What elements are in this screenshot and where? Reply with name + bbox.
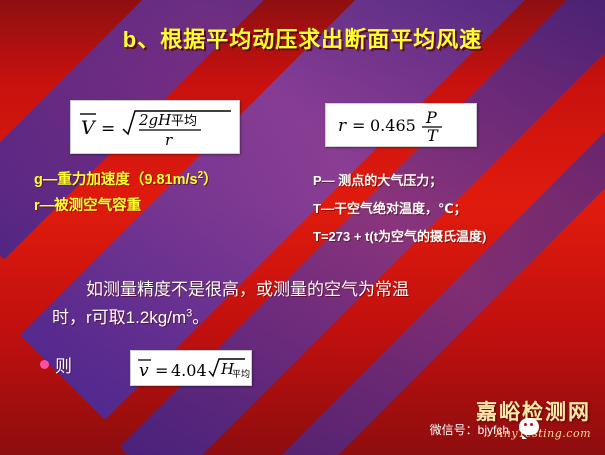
svg-text:=: = — [352, 116, 365, 135]
svg-text:P: P — [425, 108, 437, 127]
paragraph-line-1: 如测量精度不是很高，或测量的空气为常温 — [52, 276, 572, 304]
legend-right-line-3: T=273 + t(t为空气的摄氏温度) — [313, 226, 486, 245]
wechat-icon-eye-right — [530, 423, 533, 426]
svg-text:=: = — [101, 119, 115, 139]
bullet-dot-icon — [40, 360, 49, 369]
paragraph-line-2: 时，r可取1.2kg/m3。 — [52, 308, 209, 327]
wechat-icon-eye-left — [524, 423, 527, 426]
legend-right-line-2: T—干空气绝对温度，℃； — [313, 198, 486, 217]
legend-left-line-1: g—重力加速度（9.81m/s2） — [34, 168, 218, 189]
svg-text:平均: 平均 — [232, 368, 250, 380]
legend-right: P— 测点的大气压力； T—干空气绝对温度，℃； T=273 + t(t为空气的… — [313, 170, 486, 254]
legend-left: g—重力加速度（9.81m/s2） r—被测空气容重 — [34, 168, 218, 220]
svg-text:4.04: 4.04 — [171, 361, 207, 380]
page-title: b、根据平均动压求出断面平均风速 — [123, 22, 482, 54]
formula-air-density: r = 0.465 P T — [325, 103, 477, 147]
slide-root: b、根据平均动压求出断面平均风速 V = 2gH 平均 r r = 0.465 — [0, 0, 605, 455]
wechat-id-text: 微信号：bjyfch — [430, 421, 509, 438]
svg-text:V: V — [81, 117, 97, 139]
legend-right-line-1: P— 测点的大气压力； — [313, 170, 486, 189]
bullet-row: 则 — [40, 352, 72, 377]
svg-text:0.465: 0.465 — [370, 116, 416, 135]
svg-text:=: = — [155, 361, 168, 380]
wechat-icon — [519, 418, 539, 435]
legend-left-line-2: r—被测空气容重 — [34, 194, 218, 215]
bullet-label: 则 — [55, 352, 72, 377]
svg-text:r: r — [338, 116, 347, 136]
formula-mean-velocity: V = 2gH 平均 r — [70, 100, 240, 154]
svg-text:2gH: 2gH — [138, 111, 172, 129]
body-paragraph: 如测量精度不是很高，或测量的空气为常温 时，r可取1.2kg/m3。 — [52, 276, 572, 331]
svg-text:T: T — [427, 126, 439, 145]
slide-title-bar: b、根据平均动压求出断面平均风速 — [0, 18, 605, 58]
svg-text:平均: 平均 — [171, 114, 197, 129]
decorative-diagonal-bands — [0, 0, 605, 455]
svg-text:v: v — [139, 361, 149, 381]
svg-text:r: r — [165, 131, 173, 149]
formula-simplified-velocity: v = 4.04 H 平均 — [130, 350, 252, 386]
